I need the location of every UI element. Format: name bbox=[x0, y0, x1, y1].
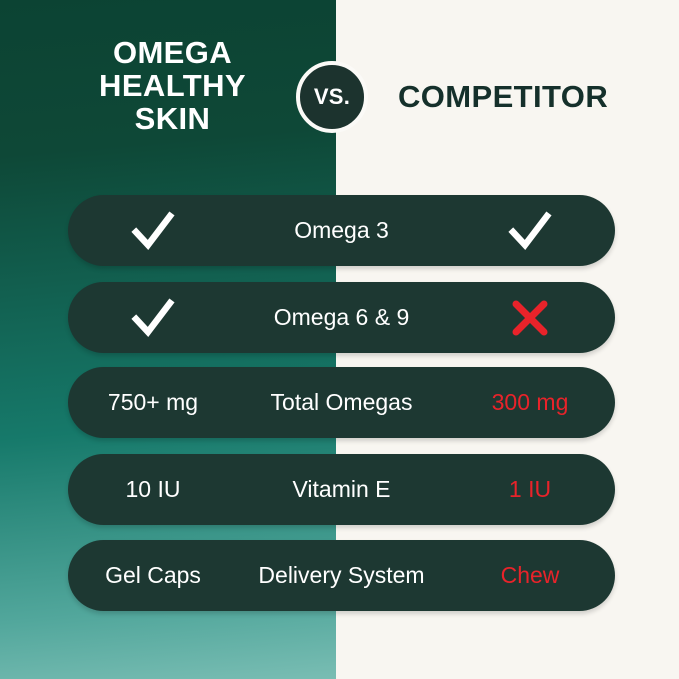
brand-value-cell bbox=[68, 282, 238, 353]
brand-value-text: 10 IU bbox=[126, 476, 181, 503]
comparison-infographic: OMEGA HEALTHY SKIN VS. COMPETITOR Omega … bbox=[0, 0, 679, 679]
comparison-row: Omega 6 & 9 bbox=[68, 282, 615, 353]
feature-label: Delivery System bbox=[258, 562, 424, 589]
comparison-row: 750+ mgTotal Omegas300 mg bbox=[68, 367, 615, 438]
comparison-row: Omega 3 bbox=[68, 195, 615, 266]
comparison-row: Gel CapsDelivery SystemChew bbox=[68, 540, 615, 611]
competitor-value-text: Chew bbox=[501, 562, 560, 589]
brand-value-cell bbox=[68, 195, 238, 266]
brand-value-cell: 10 IU bbox=[68, 454, 238, 525]
feature-label-cell: Omega 3 bbox=[238, 195, 445, 266]
feature-label: Vitamin E bbox=[292, 476, 390, 503]
brand-value-cell: 750+ mg bbox=[68, 367, 238, 438]
competitor-value-cell bbox=[445, 195, 615, 266]
brand-value-text: 750+ mg bbox=[108, 389, 198, 416]
feature-label-cell: Total Omegas bbox=[238, 367, 445, 438]
brand-value-text: Gel Caps bbox=[105, 562, 201, 589]
feature-label-cell: Delivery System bbox=[238, 540, 445, 611]
check-icon bbox=[130, 208, 176, 254]
check-icon bbox=[130, 295, 176, 341]
feature-label: Omega 6 & 9 bbox=[274, 304, 410, 331]
comparison-rows: Omega 3Omega 6 & 9750+ mgTotal Omegas300… bbox=[0, 0, 679, 679]
competitor-value-cell: 300 mg bbox=[445, 367, 615, 438]
check-icon bbox=[507, 208, 553, 254]
comparison-row: 10 IUVitamin E1 IU bbox=[68, 454, 615, 525]
feature-label-cell: Vitamin E bbox=[238, 454, 445, 525]
competitor-value-cell bbox=[445, 282, 615, 353]
feature-label-cell: Omega 6 & 9 bbox=[238, 282, 445, 353]
feature-label: Total Omegas bbox=[271, 389, 413, 416]
brand-value-cell: Gel Caps bbox=[68, 540, 238, 611]
competitor-value-cell: Chew bbox=[445, 540, 615, 611]
cross-icon bbox=[507, 295, 553, 341]
competitor-value-text: 1 IU bbox=[509, 476, 551, 503]
feature-label: Omega 3 bbox=[294, 217, 389, 244]
competitor-value-cell: 1 IU bbox=[445, 454, 615, 525]
competitor-value-text: 300 mg bbox=[492, 389, 569, 416]
